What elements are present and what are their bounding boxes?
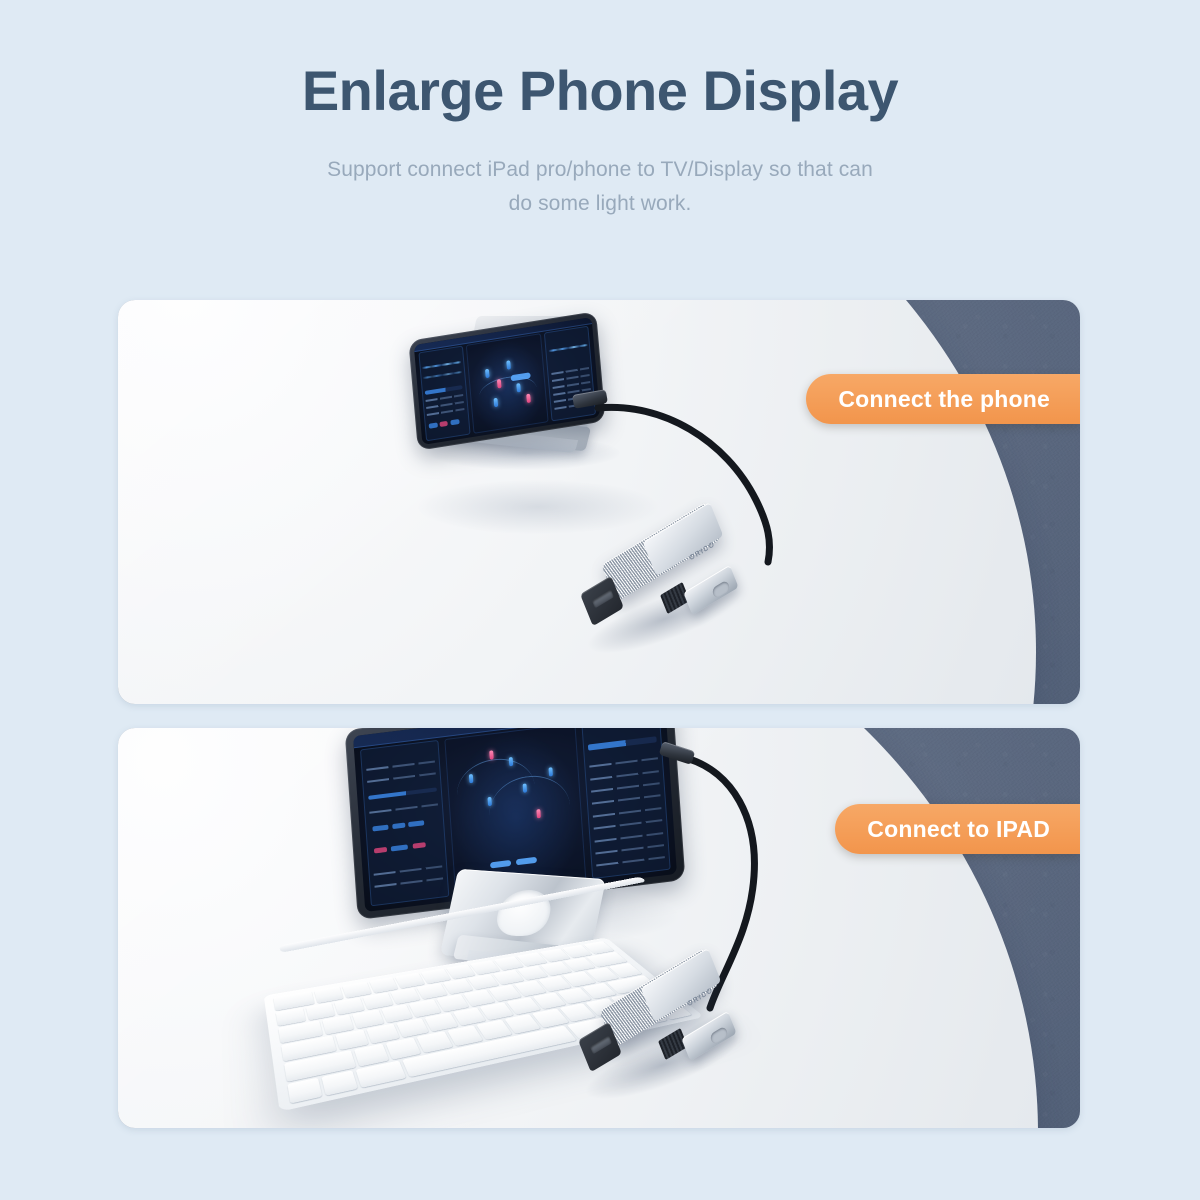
page-subtitle-line-1: Support connect iPad pro/phone to TV/Dis…	[327, 158, 873, 181]
screen-map-marker	[536, 809, 541, 818]
callout-badge-connect-ipad[interactable]: Connect to IPAD	[835, 804, 1080, 854]
screen-status-chip	[429, 423, 438, 429]
screen-table-row	[594, 819, 663, 829]
screen-sparkline	[549, 344, 588, 352]
screen-left-panel	[418, 346, 470, 442]
screen-right-panel	[544, 326, 596, 422]
screen-sparkline	[423, 371, 462, 379]
screen-map-marker	[485, 369, 490, 379]
screen-map-marker	[549, 767, 554, 776]
screen-map-marker	[523, 783, 528, 792]
screen-data-row	[367, 772, 436, 782]
screen-data-bar	[368, 788, 437, 800]
screen-map-marker	[516, 383, 521, 393]
screen-data-row	[369, 803, 438, 813]
callout-badge-connect-phone[interactable]: Connect the phone	[806, 374, 1080, 424]
screen-status-chip	[392, 823, 404, 829]
screen-table-row	[590, 770, 659, 780]
screen-map-panel	[466, 333, 548, 434]
page-subtitle-line-2: do some light work.	[509, 192, 692, 215]
key[interactable]	[287, 1077, 322, 1103]
screen-status-chip	[408, 821, 424, 828]
screen-map-marker	[509, 757, 514, 766]
screen-map-marker	[507, 360, 512, 370]
scene-panel-connect-phone: ORICO Connect the phone	[118, 300, 1080, 704]
screen-status-chip	[391, 844, 408, 851]
screen-map-marker	[487, 797, 492, 806]
screen-table-row	[589, 758, 658, 768]
screen-map-marker	[469, 774, 474, 783]
page-title: Enlarge Phone Display	[0, 62, 1200, 121]
screen-table-row	[593, 807, 662, 817]
phone-dashboard-screen	[414, 317, 601, 445]
screen-data-row	[426, 408, 464, 416]
screen-status-chip	[450, 419, 460, 425]
page-subtitle: Support connect iPad pro/phone to TV/Dis…	[0, 153, 1200, 222]
screen-sparkline	[422, 361, 461, 369]
screen-map-marker	[489, 750, 494, 759]
page-header: Enlarge Phone Display Support connect iP…	[0, 0, 1200, 222]
screen-status-chip	[412, 842, 425, 849]
screen-status-chip	[372, 825, 389, 832]
screen-status-chip	[440, 421, 448, 427]
screen-tab-bar	[588, 736, 657, 750]
screen-map-marker	[526, 394, 531, 404]
stand-contact-shadow	[418, 480, 658, 534]
screen-status-chip	[374, 847, 388, 854]
key[interactable]	[322, 1070, 358, 1096]
screen-data-row	[374, 865, 443, 875]
screen-left-panel	[360, 740, 449, 906]
screen-table-row	[591, 782, 660, 792]
screen-data-row	[375, 877, 444, 887]
screen-table-row	[592, 795, 661, 805]
scene-panel-connect-ipad: ORICO Connect to IPAD	[118, 728, 1080, 1128]
screen-data-row	[366, 760, 435, 770]
